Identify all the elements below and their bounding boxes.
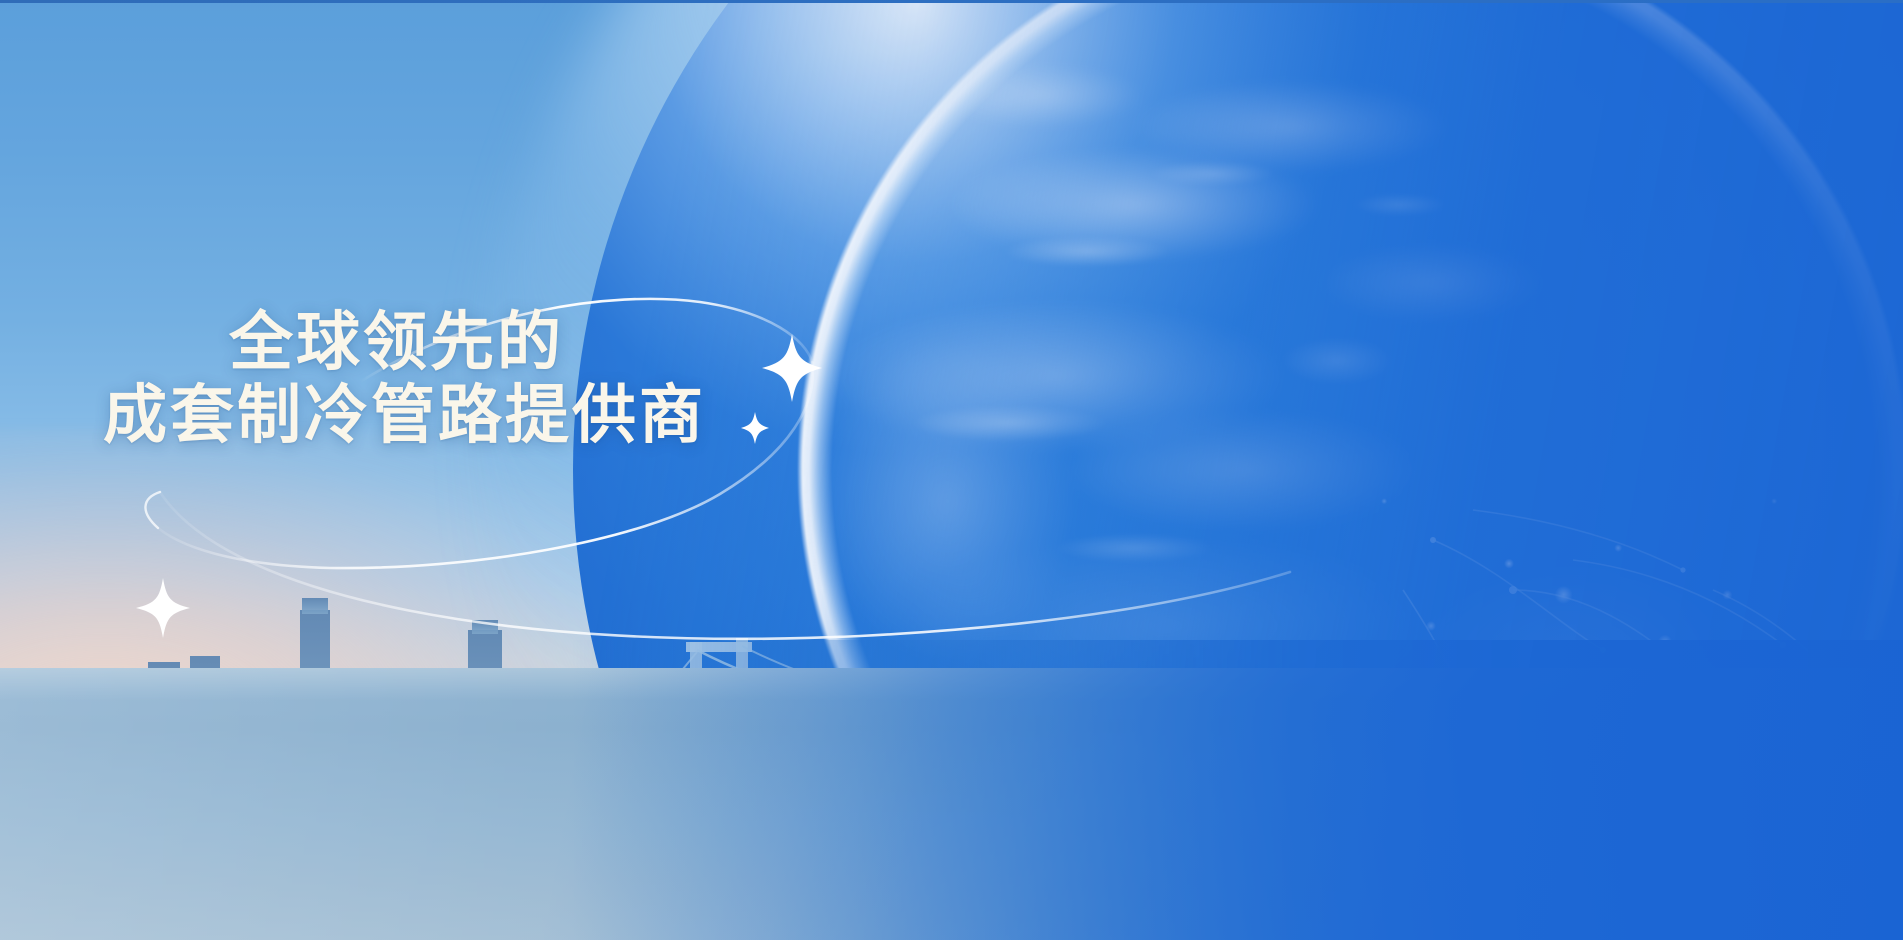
water-blue-tint [0,640,1903,940]
top-divider [0,0,1903,3]
hero-headline: 全球领先的 成套制冷管路提供商 [103,306,803,452]
hero-banner: 全球领先的 成套制冷管路提供商 [0,0,1903,940]
headline-line-2: 成套制冷管路提供商 [103,379,803,452]
headline-line-1: 全球领先的 [103,306,803,379]
